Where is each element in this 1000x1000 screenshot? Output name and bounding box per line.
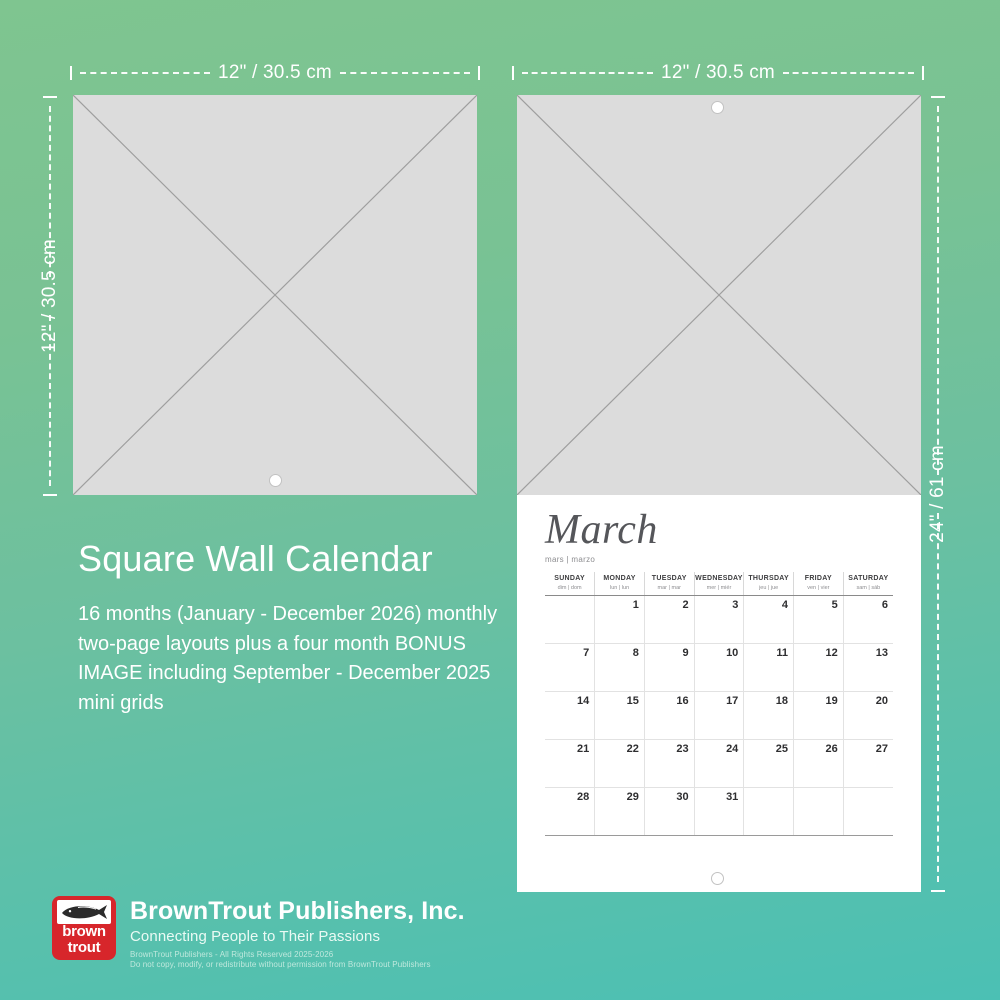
weekday-subname: ven | vier <box>794 585 843 592</box>
calendar-day-cell[interactable]: 7 <box>545 643 595 691</box>
calendar-month-title: March <box>545 509 893 551</box>
dimension-dash-bottom <box>49 315 51 486</box>
dimension-cap-top <box>931 96 945 98</box>
calendar-day-cell[interactable]: 13 <box>843 643 893 691</box>
weekday-header-wednesday: WEDNESDAY mer | miér <box>694 572 744 595</box>
calendar-day-cell[interactable]: 12 <box>794 643 844 691</box>
dimension-cap-right <box>922 66 924 80</box>
calendar-day-cell[interactable]: 4 <box>744 595 794 643</box>
dimension-cap-left <box>70 66 72 80</box>
weekday-name: THURSDAY <box>748 575 789 582</box>
browntrout-logo: brown trout <box>52 896 116 960</box>
dimension-line-top-left: 12" / 30.5 cm <box>70 62 480 84</box>
calendar-day-cell[interactable]: 24 <box>694 739 744 787</box>
fish-glyph <box>58 902 110 922</box>
punch-hole-icon <box>269 474 282 487</box>
calendar-day-cell[interactable]: 29 <box>595 787 645 835</box>
dimension-dash-left <box>522 72 653 74</box>
dimension-line-right-vertical: 24" / 61 cm <box>926 96 950 892</box>
dimension-cap-right <box>478 66 480 80</box>
calendar-day-cell[interactable]: 20 <box>843 691 893 739</box>
calendar-day-cell[interactable]: 28 <box>545 787 595 835</box>
calendar-day-cell[interactable]: 14 <box>545 691 595 739</box>
weekday-header-friday: FRIDAY ven | vier <box>794 572 844 595</box>
weekday-name: FRIDAY <box>805 575 832 582</box>
dimension-cap-bottom <box>931 890 945 892</box>
dimension-dash-bottom <box>937 513 939 882</box>
weekday-name: MONDAY <box>603 575 635 582</box>
placeholder-cross-icon <box>517 95 921 495</box>
calendar-day-cell[interactable]: 16 <box>644 691 694 739</box>
calendar-day-cell[interactable]: 3 <box>694 595 744 643</box>
calendar-day-cell[interactable]: 17 <box>694 691 744 739</box>
calendar-day-cell[interactable] <box>794 787 844 835</box>
calendar-page: March mars | marzo SUNDAY dim | dom MOND… <box>517 495 921 892</box>
trout-fish-icon <box>57 900 111 924</box>
dimension-dash-left <box>80 72 210 74</box>
company-tagline: Connecting People to Their Passions <box>130 928 465 945</box>
calendar-day-cell[interactable]: 21 <box>545 739 595 787</box>
weekday-subname: mer | miér <box>695 585 744 592</box>
logo-word-trout: trout <box>52 940 116 956</box>
dimension-label-top-right: 12" / 30.5 cm <box>661 62 775 84</box>
right-image-panel <box>517 95 921 495</box>
company-name: BrownTrout Publishers, Inc. <box>130 898 465 926</box>
weekday-name: WEDNESDAY <box>695 575 743 582</box>
calendar-content: March mars | marzo SUNDAY dim | dom MOND… <box>545 509 893 836</box>
weekday-header-saturday: SATURDAY sam | sáb <box>843 572 893 595</box>
product-preview-canvas: 12" / 30.5 cm 12" / 30.5 cm 12" / 30.5 c… <box>0 0 1000 1000</box>
dimension-line-top-right: 12" / 30.5 cm <box>512 62 924 84</box>
calendar-day-cell[interactable]: 30 <box>644 787 694 835</box>
dimension-dash-right <box>783 72 914 74</box>
calendar-day-cell[interactable] <box>843 787 893 835</box>
dimension-cap-bottom <box>43 494 57 496</box>
calendar-day-cell[interactable]: 26 <box>794 739 844 787</box>
punch-hole-icon <box>711 872 724 885</box>
weekday-header-monday: MONDAY lun | lun <box>595 572 645 595</box>
dimension-line-left-vertical: 12" / 30.5 cm <box>38 96 62 496</box>
calendar-day-cell[interactable]: 19 <box>794 691 844 739</box>
calendar-day-cell[interactable] <box>545 595 595 643</box>
placeholder-cross-icon <box>73 95 477 495</box>
product-description: 16 months (January - December 2026) mont… <box>78 600 518 718</box>
weekday-name: SUNDAY <box>554 575 585 582</box>
legal-notice: BrownTrout Publishers - All Rights Reser… <box>130 950 465 972</box>
calendar-day-cell[interactable]: 11 <box>744 643 794 691</box>
calendar-week-row: 7 8 9 10 11 12 13 <box>545 643 893 691</box>
weekday-subname: sam | sáb <box>844 585 893 592</box>
calendar-day-cell[interactable]: 8 <box>595 643 645 691</box>
weekday-name: SATURDAY <box>848 575 888 582</box>
weekday-header-tuesday: TUESDAY mar | mar <box>644 572 694 595</box>
calendar-day-cell[interactable]: 6 <box>843 595 893 643</box>
legal-line-1: BrownTrout Publishers - All Rights Reser… <box>130 950 465 961</box>
calendar-day-cell[interactable]: 1 <box>595 595 645 643</box>
dimension-dash-right <box>340 72 470 74</box>
dimension-dash-top <box>937 106 939 475</box>
calendar-week-row: 1 2 3 4 5 6 <box>545 595 893 643</box>
calendar-grid: SUNDAY dim | dom MONDAY lun | lun TUESDA… <box>545 572 893 836</box>
calendar-day-cell[interactable] <box>744 787 794 835</box>
footer-text-block: BrownTrout Publishers, Inc. Connecting P… <box>130 896 465 971</box>
footer-branding: brown trout BrownTrout Publishers, Inc. … <box>52 896 465 971</box>
weekday-header-thursday: THURSDAY jeu | jue <box>744 572 794 595</box>
calendar-week-row: 28 29 30 31 <box>545 787 893 835</box>
calendar-day-cell[interactable]: 22 <box>595 739 645 787</box>
calendar-day-cell[interactable]: 2 <box>644 595 694 643</box>
logo-word-brown: brown <box>52 924 116 940</box>
weekday-subname: lun | lun <box>595 585 644 592</box>
calendar-day-cell[interactable]: 9 <box>644 643 694 691</box>
weekday-subname: jeu | jue <box>744 585 793 592</box>
weekday-subname: dim | dom <box>545 585 594 592</box>
calendar-day-cell[interactable]: 15 <box>595 691 645 739</box>
calendar-day-cell[interactable]: 10 <box>694 643 744 691</box>
calendar-day-cell[interactable]: 23 <box>644 739 694 787</box>
legal-line-2: Do not copy, modify, or redistribute wit… <box>130 960 465 971</box>
calendar-week-row: 21 22 23 24 25 26 27 <box>545 739 893 787</box>
left-image-panel <box>73 95 477 495</box>
dimension-cap-left <box>512 66 514 80</box>
calendar-day-cell[interactable]: 18 <box>744 691 794 739</box>
dimension-cap-top <box>43 96 57 98</box>
punch-hole-icon <box>711 101 724 114</box>
weekday-name: TUESDAY <box>652 575 687 582</box>
calendar-day-cell[interactable]: 5 <box>794 595 844 643</box>
calendar-day-cell[interactable]: 31 <box>694 787 744 835</box>
weekday-header-sunday: SUNDAY dim | dom <box>545 572 595 595</box>
logo-wordmark: brown trout <box>52 924 116 956</box>
calendar-day-cell[interactable]: 27 <box>843 739 893 787</box>
calendar-week-row: 14 15 16 17 18 19 20 <box>545 691 893 739</box>
dimension-label-top-left: 12" / 30.5 cm <box>218 62 332 84</box>
calendar-day-cell[interactable]: 25 <box>744 739 794 787</box>
product-headline: Square Wall Calendar <box>78 538 433 580</box>
weekday-subname: mar | mar <box>645 585 694 592</box>
calendar-month-subtitle: mars | marzo <box>545 555 893 564</box>
calendar-weekday-header-row: SUNDAY dim | dom MONDAY lun | lun TUESDA… <box>545 572 893 595</box>
